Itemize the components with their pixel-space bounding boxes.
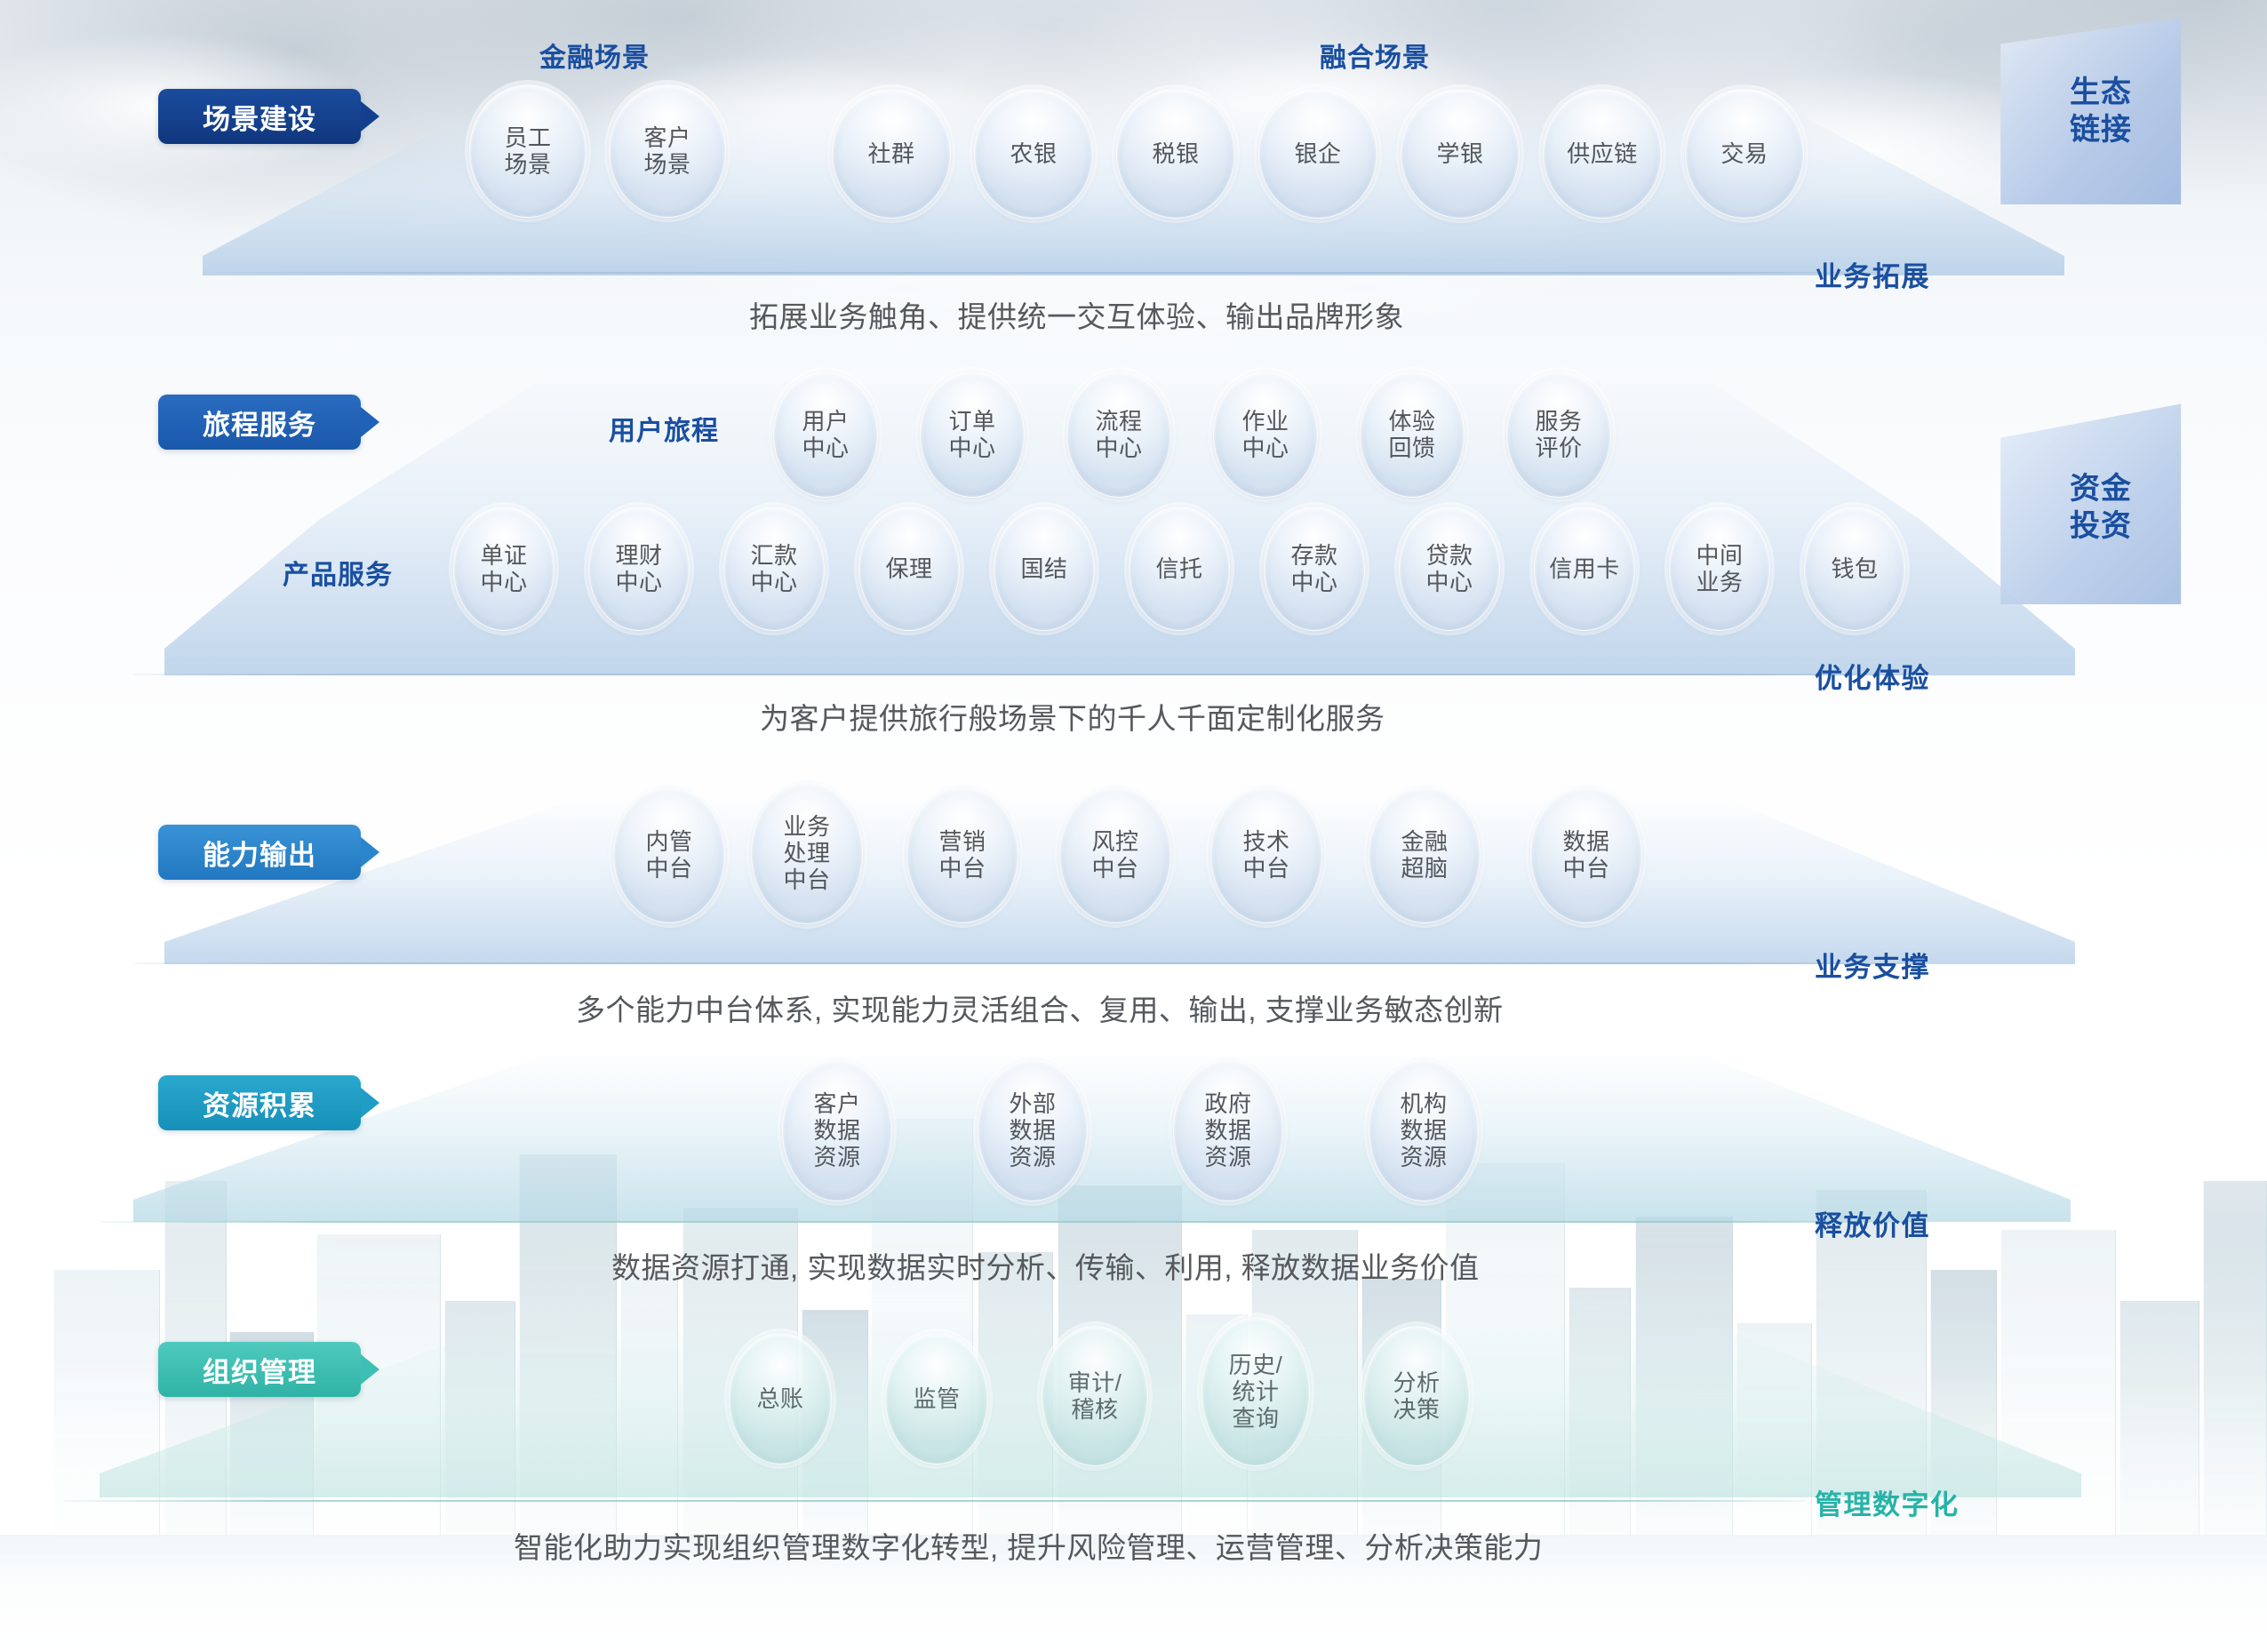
stage-label-organization[interactable]: 组织管理 [158,1342,361,1397]
bubble-customer-scene[interactable]: 客户 场景 [609,84,726,218]
caption-resource: 数据资源打通, 实现数据实时分析、传输、利用, 释放数据业务价值 [611,1244,1480,1287]
bubble-line: 中台 [1242,855,1289,882]
bubble-loan-center[interactable]: 贷款 中心 [1399,507,1500,631]
bubble-line: 中台 [783,866,830,893]
bubble-marketing-midplatform[interactable]: 营销 中台 [906,786,1018,923]
bubble-history-statistics-query[interactable]: 历史/ 统计 查询 [1201,1317,1310,1466]
rule-tag-business-expansion: 业务拓展 [1815,254,1930,294]
bubble-line: 查询 [1232,1405,1279,1432]
group-heading-fusion-scene: 融合场景 [1320,36,1430,75]
bubble-line: 信用卡 [1549,555,1620,582]
bubble-line: 员工 [504,124,551,151]
bubble-line: 中心 [615,569,662,595]
stage-arrow-icon [361,1088,379,1118]
bubble-general-ledger[interactable]: 总账 [729,1333,832,1464]
bubble-line: 保理 [885,555,932,582]
bubble-line: 数据 [1562,828,1609,855]
bubble-line: 内管 [645,828,692,855]
group-heading-product-service: 产品服务 [283,553,393,592]
group-heading-financial-scene: 金融场景 [539,36,650,75]
stage-label-journey[interactable]: 旅程服务 [158,395,361,450]
bubble-community[interactable]: 社群 [832,89,951,219]
bubble-line: 国结 [1020,555,1067,582]
bubble-external-data-resource[interactable]: 外部 数据 资源 [978,1059,1088,1201]
stage-label-capability[interactable]: 能力输出 [158,825,361,880]
bubble-factoring[interactable]: 保理 [858,507,960,631]
stage-label-organization-text: 组织管理 [203,1350,316,1390]
bubble-line: 信托 [1155,555,1202,582]
rule-tag-optimize-experience: 优化体验 [1815,656,1930,696]
bubble-line: 中心 [750,569,797,595]
divider-capability [133,962,1927,964]
rule-tag-release-value: 释放价值 [1815,1203,1930,1243]
bubble-supply-chain[interactable]: 供应链 [1543,89,1662,219]
bubble-edu-bank[interactable]: 学银 [1401,89,1520,219]
side-banner-eco-text: 生态 链接 [2070,74,2132,149]
bubble-line: 中台 [938,855,986,882]
bubble-line: 单证 [480,542,527,569]
bubble-data-midplatform[interactable]: 数据 中台 [1530,786,1642,923]
side-banner-line: 链接 [2070,111,2132,149]
stage-label-scene-text: 场景建设 [203,97,316,137]
bubble-line: 总账 [756,1385,803,1412]
bubble-line: 存款 [1290,542,1337,569]
bubble-line: 客户 [813,1090,860,1117]
divider-organization [64,1500,1806,1502]
bubble-line: 统计 [1232,1378,1279,1405]
bubble-line: 稽核 [1071,1396,1118,1423]
stage-arrow-icon [361,837,379,867]
bubble-intermediary-business[interactable]: 中间 业务 [1669,507,1770,631]
stage-label-resource-text: 资源积累 [203,1083,316,1123]
bubble-line: 作业 [1241,408,1289,435]
bubble-trading-market[interactable]: 交易 [1685,89,1804,219]
bubble-line: 数据 [1009,1117,1056,1144]
stage-label-resource[interactable]: 资源积累 [158,1075,361,1130]
bubble-document-center[interactable]: 单证 中心 [453,507,555,631]
bubble-line: 贷款 [1425,542,1473,569]
rule-tag-management-digitalization: 管理数字化 [1815,1482,1960,1522]
bubble-line: 审计/ [1068,1369,1122,1396]
bubble-line: 中台 [645,855,692,882]
side-banner-fund-text: 资金 投资 [2070,470,2132,546]
bubble-internal-mgmt-midplatform[interactable]: 内管 中台 [613,786,725,923]
group-heading-user-journey: 用户旅程 [609,409,719,448]
bubble-tax-bank[interactable]: 税银 [1116,89,1235,219]
bubble-wealth-center[interactable]: 理财 中心 [588,507,690,631]
bubble-customer-data-resource[interactable]: 客户 数据 资源 [782,1059,892,1201]
bubble-line: 数据 [1400,1117,1447,1144]
bubble-credit-card[interactable]: 信用卡 [1534,507,1635,631]
bubble-supervision[interactable]: 监管 [885,1333,988,1464]
bubble-line: 服务 [1535,408,1582,435]
bubble-line: 中心 [948,435,995,461]
side-banner-line: 生态 [2070,74,2132,112]
divider-product [133,674,1927,675]
bubble-line: 中心 [1241,435,1289,461]
bubble-line: 流程 [1095,408,1142,435]
bubble-remittance-center[interactable]: 汇款 中心 [723,507,825,631]
bubble-line: 风控 [1091,828,1138,855]
bubble-line: 汇款 [750,542,797,569]
bubble-line: 营销 [938,828,986,855]
bubble-line: 监管 [913,1385,960,1412]
side-banner-eco-link: 生态 链接 [1980,18,2238,204]
bubble-line: 中心 [480,569,527,595]
bubble-order-center[interactable]: 订单 中心 [920,371,1025,498]
bubble-government-data-resource[interactable]: 政府 数据 资源 [1173,1059,1283,1201]
bubble-line: 处理 [783,840,830,866]
bubble-line: 超脑 [1401,855,1448,882]
bubble-process-center[interactable]: 流程 中心 [1066,371,1171,498]
bubble-deposit-center[interactable]: 存款 中心 [1264,507,1365,631]
bubble-line: 客户 [643,124,690,151]
bubble-line: 决策 [1393,1396,1440,1423]
bubble-experience-feedback[interactable]: 体验 回馈 [1360,371,1465,498]
side-banner-fund-invest: 资金 投资 [1980,391,2238,604]
bubble-line: 中心 [1095,435,1142,461]
bubble-intl-settlement[interactable]: 国结 [994,507,1095,631]
bubble-analysis-decision[interactable]: 分析 决策 [1363,1326,1470,1466]
divider-resource [100,1221,1927,1223]
bubble-line: 历史/ [1229,1352,1283,1378]
bubble-line: 中心 [802,435,849,461]
bubble-line: 供应链 [1567,140,1638,167]
bubble-line: 社群 [867,140,914,167]
bubble-agri-bank[interactable]: 农银 [974,89,1093,219]
bubble-line: 中心 [1290,569,1337,595]
bubble-user-center[interactable]: 用户 中心 [773,371,878,498]
stage-label-scene[interactable]: 场景建设 [158,89,361,144]
bubble-line: 银企 [1294,140,1341,167]
bubble-line: 技术 [1242,828,1289,855]
bubble-line: 体验 [1388,408,1435,435]
bubble-operation-center[interactable]: 作业 中心 [1213,371,1318,498]
caption-organization: 智能化助力实现组织管理数字化转型, 提升风险管理、运营管理、分析决策能力 [514,1524,1543,1567]
stage-label-journey-text: 旅程服务 [203,403,316,443]
bubble-employee-scene[interactable]: 员工 场景 [469,84,587,218]
bubble-line: 机构 [1400,1090,1447,1117]
caption-product: 为客户提供旅行般场景下的千人千面定制化服务 [760,695,1385,738]
stage-arrow-icon [361,1354,379,1385]
bubble-line: 资源 [1009,1144,1056,1170]
bubble-line: 订单 [948,408,995,435]
caption-scene: 拓展业务触角、提供统一交互体验、输出品牌形象 [749,293,1404,336]
bubble-risk-control-midplatform[interactable]: 风控 中台 [1059,786,1171,923]
stage-arrow-icon [361,407,379,437]
divider-scene [203,272,1927,274]
bubble-technology-midplatform[interactable]: 技术 中台 [1210,786,1322,923]
bubble-line: 数据 [1204,1117,1251,1144]
bubble-line: 分析 [1393,1369,1440,1396]
bubble-line: 数据 [813,1117,860,1144]
bubble-service-rating[interactable]: 服务 评价 [1506,371,1611,498]
stage-label-capability-text: 能力输出 [203,833,316,873]
bubble-line: 中台 [1091,855,1138,882]
slab-resource [133,1053,2071,1222]
stage-arrow-icon [361,101,379,132]
side-banner-line: 投资 [2070,507,2132,546]
bubble-line: 钱包 [1831,555,1878,582]
bubble-wallet[interactable]: 钱包 [1804,507,1905,631]
bubble-business-processing-midplatform[interactable]: 业务 处理 中台 [751,782,863,924]
bubble-line: 金融 [1401,828,1448,855]
bubble-line: 业务 [1696,569,1743,595]
bubble-line: 交易 [1720,140,1768,167]
side-banner-line: 资金 [2070,470,2132,508]
bubble-line: 中心 [1425,569,1473,595]
bubble-line: 政府 [1204,1090,1251,1117]
bubble-line: 评价 [1535,435,1582,461]
bubble-line: 资源 [1400,1144,1447,1170]
caption-capability: 多个能力中台体系, 实现能力灵活组合、复用、输出, 支撑业务敏态创新 [576,986,1504,1029]
bubble-line: 中台 [1562,855,1609,882]
bubble-line: 农银 [1010,140,1057,167]
bubble-line: 理财 [615,542,662,569]
bubble-institution-data-resource[interactable]: 机构 数据 资源 [1369,1059,1479,1201]
bubble-audit-inspection[interactable]: 审计/ 稽核 [1042,1326,1148,1466]
bubble-line: 用户 [802,408,849,435]
bubble-financial-superbrain[interactable]: 金融 超脑 [1369,786,1481,923]
bubble-line: 外部 [1009,1090,1056,1117]
bubble-line: 业务 [783,813,830,840]
bubble-line: 中间 [1696,542,1743,569]
bubble-line: 场景 [643,151,690,178]
bubble-line: 回馈 [1388,435,1435,461]
bubble-line: 资源 [813,1144,860,1170]
bubble-bank-enterprise[interactable]: 银企 [1258,89,1377,219]
bubble-line: 税银 [1152,140,1199,167]
bubble-line: 场景 [504,151,551,178]
bubble-trust[interactable]: 信托 [1129,507,1230,631]
rule-tag-business-support: 业务支撑 [1815,945,1930,985]
bubble-line: 资源 [1204,1144,1251,1170]
bubble-line: 学银 [1436,140,1483,167]
